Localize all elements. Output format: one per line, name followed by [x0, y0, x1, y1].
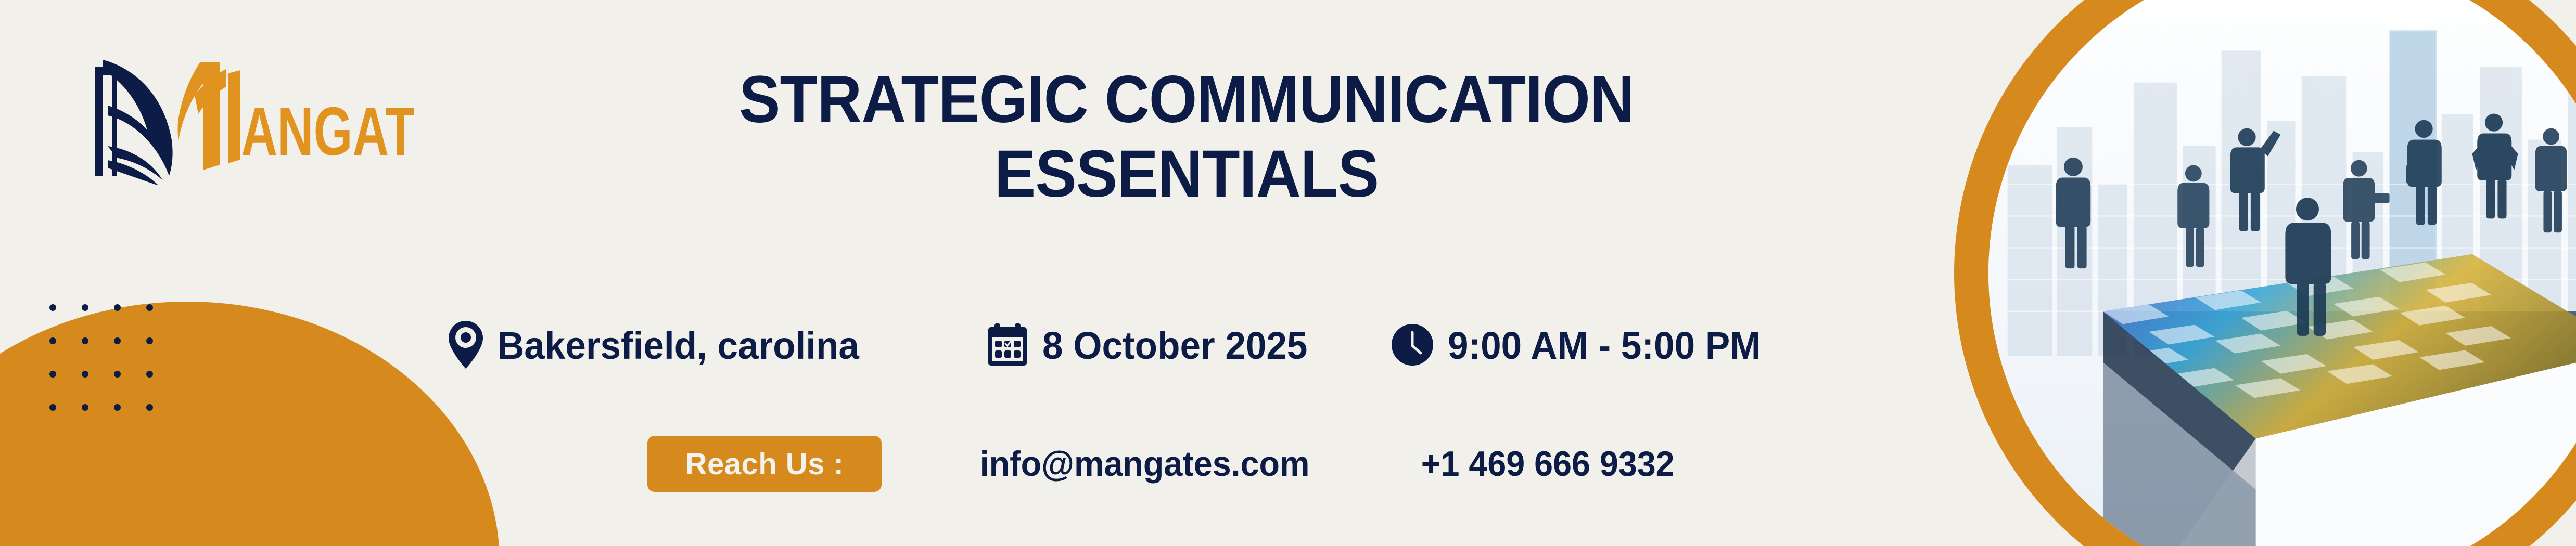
phone-link[interactable]: +1 469 666 9332: [1421, 446, 1675, 482]
decor-dot: [114, 337, 121, 344]
event-date: 8 October 2025: [986, 322, 1319, 370]
decor-dot: [82, 404, 88, 411]
contact-row: Reach Us : info@mangates.com +1 469 666 …: [647, 433, 1681, 495]
decor-dot: [146, 371, 153, 378]
clock-icon: [1391, 323, 1434, 369]
reach-us-button[interactable]: Reach Us :: [647, 436, 882, 492]
hero-image-circle: [1954, 0, 2576, 546]
event-time: 9:00 AM - 5:00 PM: [1391, 323, 1774, 369]
hero-photo: [1988, 0, 2576, 546]
decor-dot: [146, 304, 153, 311]
decor-dot: [82, 337, 88, 344]
title-line-2: ESSENTIALS: [519, 137, 1855, 211]
time-text: 9:00 AM - 5:00 PM: [1448, 327, 1761, 365]
decor-dot: [49, 304, 56, 311]
event-location: Bakersfield, carolina: [448, 320, 874, 372]
decor-dot: [49, 337, 56, 344]
location-pin-icon: [448, 320, 484, 372]
open-book-icon: [95, 60, 173, 185]
decor-dot: [114, 304, 121, 311]
decor-dot: [49, 371, 56, 378]
email-link[interactable]: info@mangates.com: [980, 446, 1310, 482]
decor-dot: [146, 337, 153, 344]
location-text: Bakersfield, carolina: [498, 327, 859, 365]
page-title: STRATEGIC COMMUNICATION ESSENTIALS: [468, 62, 1905, 212]
decor-dot: [82, 371, 88, 378]
date-text: 8 October 2025: [1042, 327, 1307, 365]
mangates-logo[interactable]: ANGATES: [70, 49, 414, 185]
decor-dot: [114, 404, 121, 411]
event-info-row: Bakersfield, carolina 8 Octobe: [448, 307, 1978, 385]
title-line-1: STRATEGIC COMMUNICATION: [519, 62, 1855, 137]
decor-dot: [146, 404, 153, 411]
decor-dot: [49, 404, 56, 411]
decor-dot: [114, 371, 121, 378]
event-banner: ANGATES STRATEGIC COMMUNICATION ESSENTIA…: [0, 0, 2576, 546]
logo-letter-m: [178, 62, 241, 170]
logo-wordmark: ANGATES: [241, 93, 414, 170]
calendar-icon: [986, 322, 1029, 370]
decor-dot: [82, 304, 88, 311]
dot-grid-left: [49, 304, 178, 437]
